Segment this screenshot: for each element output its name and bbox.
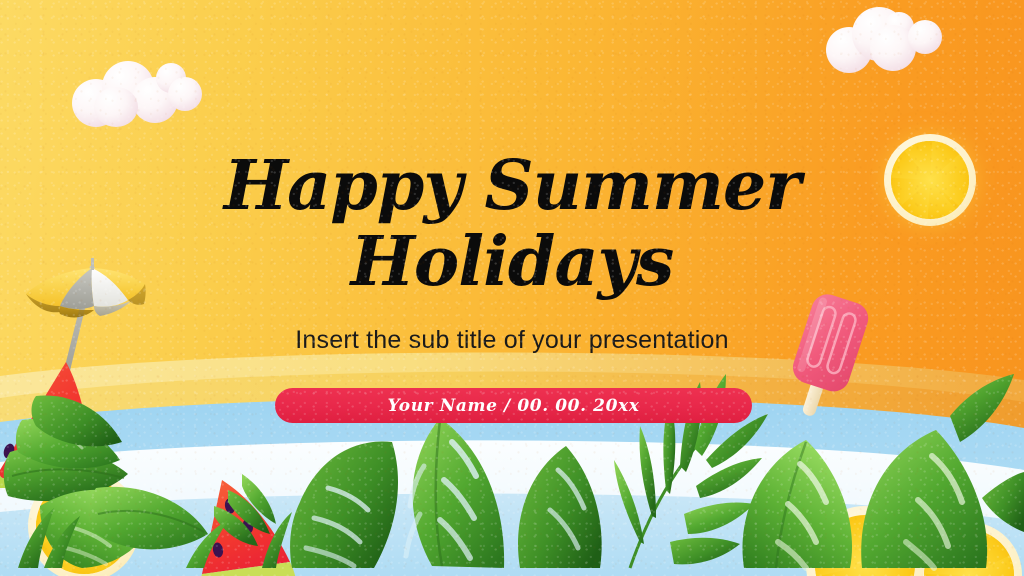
author-date-banner[interactable]: Your Name / 00. 00. 20xx xyxy=(275,388,752,423)
monstera-leaf xyxy=(518,446,602,568)
leaf-cluster-right xyxy=(742,374,1024,568)
palm-leaflet xyxy=(696,458,762,498)
cloud-top-right xyxy=(826,3,958,75)
cloud-puff xyxy=(168,77,202,111)
monstera-leaf xyxy=(861,430,987,568)
palm-leaflet xyxy=(684,502,754,534)
palm-leaflet xyxy=(640,426,657,518)
palm-leaflet xyxy=(982,472,1024,532)
presentation-slide: Happy Summer Holidays Insert the sub tit… xyxy=(0,0,1024,576)
leaf-slit xyxy=(406,514,420,556)
grass-blade xyxy=(262,512,292,568)
slide-subtitle: Insert the sub title of your presentatio… xyxy=(0,326,1024,355)
palm-leaflet xyxy=(670,538,740,565)
banner-text: Your Name / 00. 00. 20xx xyxy=(388,396,640,416)
cloud-puff xyxy=(94,87,138,127)
slide-title: Happy Summer Holidays xyxy=(0,148,1024,300)
monstera-leaves xyxy=(290,418,602,568)
cloud-puff xyxy=(908,20,942,54)
title-line-1: Happy Summer xyxy=(0,148,1024,224)
palm-frond-center-left xyxy=(214,474,276,546)
palm-leaflet xyxy=(950,374,1014,442)
cloud-top-left xyxy=(72,55,202,127)
title-line-2: Holidays xyxy=(0,224,1024,300)
palm-leaflet xyxy=(614,460,644,544)
